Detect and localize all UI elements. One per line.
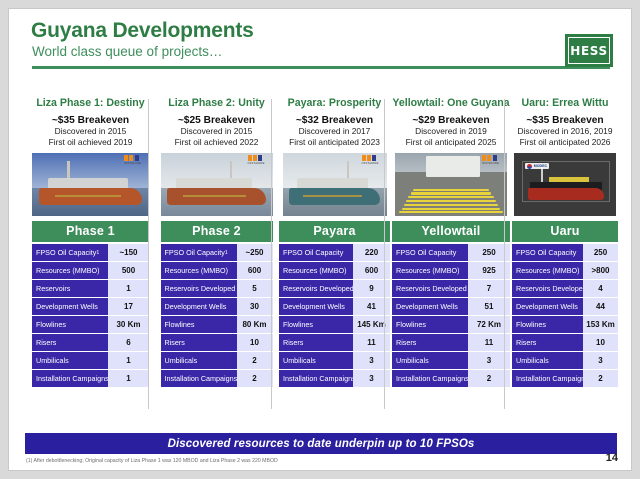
table-row: Resources (MMBO)500 — [32, 262, 149, 279]
photo-pipe — [406, 200, 496, 202]
project-discovered: Discovered in 2015 — [27, 126, 154, 137]
sbm-bar — [362, 155, 366, 161]
project-photo: OFFSHORE — [395, 153, 507, 216]
table-row-label: Installation Campaigns — [32, 370, 108, 387]
project-column: Yellowtail: One Guyana~$29 BreakevenDisc… — [392, 97, 510, 422]
project-table: Phase 2FPSO Oil Capacity1~250Resources (… — [161, 221, 273, 387]
table-row-label: Reservoirs Developed — [161, 280, 237, 297]
table-row-label-text: Resources (MMBO) — [36, 266, 100, 275]
project-first-oil: First oil anticipated 2023 — [279, 137, 390, 148]
photo-pipe — [402, 208, 501, 210]
table-row-label-text: Development Wells — [396, 302, 458, 311]
project-first-oil: First oil achieved 2019 — [27, 137, 154, 148]
project-discovered: Discovered in 2019 — [392, 126, 510, 137]
table-row-value: 6 — [108, 334, 149, 351]
table-row-label-text: Flowlines — [283, 320, 313, 329]
hess-logo: HESS — [565, 34, 613, 67]
table-row: Installation Campaigns2 — [161, 370, 273, 387]
table-row-label-text: Development Wells — [516, 302, 578, 311]
project-name: Liza Phase 1: Destiny — [27, 97, 154, 110]
slide-header: Guyana Developments World class queue of… — [9, 9, 632, 71]
sbm-bar — [135, 155, 139, 161]
table-row-label-text: FPSO Oil Capacity — [36, 248, 96, 257]
table-row: Installation Campaigns3 — [279, 370, 390, 387]
photo-accommodation-block — [426, 156, 480, 177]
table-row-label: Umbilicals — [32, 352, 108, 369]
table-row-value: 80 Km — [237, 316, 273, 333]
table-row-value: >800 — [583, 262, 618, 279]
project-discovered: Discovered in 2017 — [279, 126, 390, 137]
project-first-oil: First oil anticipated 2025 — [392, 137, 510, 148]
table-row: Umbilicals2 — [161, 352, 273, 369]
table-row-label: Resources (MMBO) — [392, 262, 468, 279]
table-row-value: 10 — [237, 334, 273, 351]
photo-flare-tower — [230, 161, 233, 180]
project-photo: OFFSHORE — [32, 153, 149, 216]
table-row-label-text: Resources (MMBO) — [283, 266, 347, 275]
table-row: Development Wells17 — [32, 298, 149, 315]
table-row: Risers10 — [512, 334, 618, 351]
table-row-label: Development Wells — [32, 298, 108, 315]
table-row-label: Umbilicals — [161, 352, 237, 369]
table-row-label-text: Flowlines — [516, 320, 546, 329]
project-breakeven: ~$25 Breakeven — [156, 115, 277, 126]
column-divider — [384, 99, 385, 409]
table-row-label-text: Resources (MMBO) — [516, 266, 580, 275]
project-table-rows: FPSO Oil Capacity250Resources (MMBO)925R… — [392, 244, 510, 387]
project-name: Uaru: Errea Wittu — [512, 97, 618, 110]
table-row-value: 2 — [237, 370, 273, 387]
hess-logo-frame: HESS — [568, 37, 610, 64]
project-first-oil: First oil achieved 2022 — [156, 137, 277, 148]
table-row-label: FPSO Oil Capacity1 — [32, 244, 108, 261]
table-row: Flowlines153 Km — [512, 316, 618, 333]
table-row-label-text: Risers — [36, 338, 56, 347]
table-row: Reservoirs1 — [32, 280, 149, 297]
sbm-bar — [253, 155, 257, 161]
sbm-bars-icon — [124, 155, 146, 161]
table-row: Reservoirs Developed7 — [392, 280, 510, 297]
project-table-rows: FPSO Oil Capacity220Resources (MMBO)600R… — [279, 244, 390, 387]
table-row: Resources (MMBO)600 — [279, 262, 390, 279]
table-row-label-text: Risers — [283, 338, 303, 347]
project-table-rows: FPSO Oil Capacity1~150Resources (MMBO)50… — [32, 244, 149, 387]
table-row-label-text: Umbilicals — [283, 356, 316, 365]
footnote-text: (1) After debottlenecking; Original capa… — [26, 458, 278, 464]
table-row-label: Risers — [32, 334, 108, 351]
column-divider — [504, 99, 505, 409]
project-name: Yellowtail: One Guyana — [392, 97, 510, 110]
project-table-rows: FPSO Oil Capacity250Resources (MMBO)>800… — [512, 244, 618, 387]
table-row-footnote-marker: 1 — [225, 250, 228, 256]
sbm-logo-text: OFFSHORE — [362, 161, 384, 165]
table-row-value: 2 — [237, 352, 273, 369]
project-column: Payara: Prosperity~$32 BreakevenDiscover… — [279, 97, 390, 422]
sbm-offshore-logo: OFFSHORE — [248, 155, 270, 164]
table-row-label: FPSO Oil Capacity — [392, 244, 468, 261]
photo-pipe — [411, 192, 492, 194]
sbm-bar — [124, 155, 128, 161]
table-row-label: Flowlines — [279, 316, 353, 333]
table-row-label-text: Reservoirs — [36, 284, 70, 293]
table-row-label-text: Installation Campaigns — [283, 374, 353, 383]
photo-hull — [528, 188, 603, 199]
photo-pipe — [413, 189, 489, 191]
table-row-label-text: Umbilicals — [396, 356, 429, 365]
table-row: Risers6 — [32, 334, 149, 351]
table-row-label: FPSO Oil Capacity — [279, 244, 353, 261]
table-row-label-text: Installation Campaigns — [165, 374, 237, 383]
table-row: Development Wells30 — [161, 298, 273, 315]
table-row: Installation Campaigns2 — [392, 370, 510, 387]
table-row-label: Reservoirs Developed — [279, 280, 353, 297]
table-row: Reservoirs Developed9 — [279, 280, 390, 297]
sbm-logo-text: OFFSHORE — [482, 161, 504, 165]
sbm-bar — [372, 155, 376, 161]
table-row-label-text: Risers — [396, 338, 416, 347]
table-row-label-text: Risers — [165, 338, 185, 347]
table-row-label-text: Risers — [516, 338, 536, 347]
sbm-logo-text: OFFSHORE — [248, 161, 270, 165]
project-columns: Liza Phase 1: Destiny~$35 BreakevenDisco… — [9, 97, 632, 422]
table-row: FPSO Oil Capacity1~150 — [32, 244, 149, 261]
table-row: Umbilicals3 — [512, 352, 618, 369]
table-row: Flowlines80 Km — [161, 316, 273, 333]
table-row: Development Wells51 — [392, 298, 510, 315]
table-row-label-text: FPSO Oil Capacity — [165, 248, 225, 257]
table-row: Risers10 — [161, 334, 273, 351]
table-row: Development Wells41 — [279, 298, 390, 315]
table-row-value: ~150 — [108, 244, 149, 261]
footer-banner: Discovered resources to date underpin up… — [25, 433, 617, 454]
table-row: FPSO Oil Capacity250 — [512, 244, 618, 261]
table-row: Resources (MMBO)600 — [161, 262, 273, 279]
photo-flare-tower — [67, 161, 70, 180]
table-row-label-text: FPSO Oil Capacity — [283, 248, 343, 257]
table-row-label-text: Development Wells — [36, 302, 98, 311]
table-row-label-text: Resources (MMBO) — [396, 266, 460, 275]
table-row: Flowlines72 Km — [392, 316, 510, 333]
table-row-value: 5 — [237, 280, 273, 297]
table-row-label: Risers — [161, 334, 237, 351]
table-row-label: Resources (MMBO) — [161, 262, 237, 279]
table-row-label: Installation Campaigns — [161, 370, 237, 387]
table-row-value: 1 — [108, 352, 149, 369]
table-row-label: FPSO Oil Capacity1 — [161, 244, 237, 261]
table-row-value: 30 — [237, 298, 273, 315]
sbm-bars-icon — [482, 155, 504, 161]
table-row-label: Resources (MMBO) — [512, 262, 583, 279]
sbm-bar — [482, 155, 486, 161]
project-table: PayaraFPSO Oil Capacity220Resources (MMB… — [279, 221, 390, 387]
table-row-label: Umbilicals — [512, 352, 583, 369]
table-row: Flowlines145 Km — [279, 316, 390, 333]
photo-hull-stripe — [55, 195, 121, 198]
project-table: UaruFPSO Oil Capacity250Resources (MMBO)… — [512, 221, 618, 387]
project-photo: OFFSHORE — [161, 153, 273, 216]
table-row-label: Development Wells — [392, 298, 468, 315]
table-row-label-text: Reservoirs Developed — [165, 284, 236, 293]
project-table: Phase 1FPSO Oil Capacity1~150Resources (… — [32, 221, 149, 387]
project-table-title: Phase 2 — [161, 221, 273, 242]
table-row-label: Risers — [279, 334, 353, 351]
table-row-label-text: Umbilicals — [36, 356, 69, 365]
table-row-label: Development Wells — [161, 298, 237, 315]
table-row-label: Resources (MMBO) — [279, 262, 353, 279]
table-row-label-text: Resources (MMBO) — [165, 266, 229, 275]
page-number: 14 — [606, 452, 618, 464]
table-row-value: 153 Km — [583, 316, 618, 333]
table-row-label: Umbilicals — [392, 352, 468, 369]
table-row: Umbilicals3 — [392, 352, 510, 369]
table-row-value: 30 Km — [108, 316, 149, 333]
sbm-bar — [367, 155, 371, 161]
table-row-label: Flowlines — [512, 316, 583, 333]
photo-hull-stripe — [183, 195, 246, 198]
table-row-label: Reservoirs — [32, 280, 108, 297]
table-row-label-text: Umbilicals — [516, 356, 549, 365]
table-row: Umbilicals3 — [279, 352, 390, 369]
table-row-value: 44 — [583, 298, 618, 315]
table-row-label: Flowlines — [32, 316, 108, 333]
project-column: Liza Phase 1: Destiny~$35 BreakevenDisco… — [27, 97, 154, 422]
table-row: Risers11 — [279, 334, 390, 351]
project-name: Payara: Prosperity — [279, 97, 390, 110]
table-row-label-text: Development Wells — [165, 302, 227, 311]
table-row-label: Flowlines — [161, 316, 237, 333]
sbm-bars-icon — [362, 155, 384, 161]
project-column: Uaru: Errea Wittu~$35 BreakevenDiscovere… — [512, 97, 618, 422]
project-table-title: Yellowtail — [392, 221, 510, 242]
hess-logo-text: HESS — [570, 44, 607, 58]
table-row-label-text: Installation Campaigns — [396, 374, 468, 383]
table-row-label: Reservoirs Developed — [512, 280, 583, 297]
table-row-label: Resources (MMBO) — [32, 262, 108, 279]
photo-flare-tower — [541, 167, 543, 183]
table-row: Development Wells44 — [512, 298, 618, 315]
table-row-label-text: Flowlines — [165, 320, 195, 329]
title-divider — [32, 66, 610, 69]
table-row-value: 2 — [583, 370, 618, 387]
project-breakeven: ~$35 Breakeven — [27, 115, 154, 126]
table-row: Resources (MMBO)>800 — [512, 262, 618, 279]
table-row-label-text: Flowlines — [36, 320, 66, 329]
project-name: Liza Phase 2: Unity — [156, 97, 277, 110]
table-row-value: 500 — [108, 262, 149, 279]
table-row-label: Risers — [512, 334, 583, 351]
photo-flare-tower — [347, 161, 350, 180]
table-row-footnote-marker: 1 — [96, 250, 99, 256]
table-row-label: Flowlines — [392, 316, 468, 333]
sbm-bar — [129, 155, 133, 161]
table-row-label-text: Reservoirs Developed — [396, 284, 467, 293]
table-row-label: Installation Campaigns — [392, 370, 468, 387]
table-row-label-text: Flowlines — [396, 320, 426, 329]
sbm-bar — [493, 155, 497, 161]
sbm-offshore-logo: OFFSHORE — [124, 155, 146, 164]
table-row: Reservoirs Developed4 — [512, 280, 618, 297]
project-breakeven: ~$29 Breakeven — [392, 115, 510, 126]
project-discovered: Discovered in 2015 — [156, 126, 277, 137]
sbm-bar — [487, 155, 491, 161]
sbm-bar — [258, 155, 262, 161]
table-row-label-text: Installation Campaigns — [516, 374, 583, 383]
table-row-label: FPSO Oil Capacity — [512, 244, 583, 261]
project-table-title: Payara — [279, 221, 390, 242]
column-divider — [148, 99, 149, 409]
table-row-value: 3 — [583, 352, 618, 369]
table-row-label: Reservoirs Developed — [392, 280, 468, 297]
table-row-label-text: Reservoirs Developed — [516, 284, 583, 293]
sbm-logo-text: OFFSHORE — [124, 161, 146, 165]
table-row-value: 250 — [583, 244, 618, 261]
table-row: Risers11 — [392, 334, 510, 351]
slide: Guyana Developments World class queue of… — [8, 8, 632, 471]
table-row-label: Risers — [392, 334, 468, 351]
table-row: Resources (MMBO)925 — [392, 262, 510, 279]
sbm-offshore-logo: OFFSHORE — [482, 155, 504, 164]
project-table: YellowtailFPSO Oil Capacity250Resources … — [392, 221, 510, 387]
table-row-label-text: Reservoirs Developed — [283, 284, 353, 293]
project-breakeven: ~$32 Breakeven — [279, 115, 390, 126]
photo-hull-stripe — [303, 195, 361, 198]
table-row-label: Installation Campaigns — [279, 370, 353, 387]
table-row: FPSO Oil Capacity1~250 — [161, 244, 273, 261]
photo-pipe — [404, 204, 498, 206]
project-table-title: Uaru — [512, 221, 618, 242]
project-table-rows: FPSO Oil Capacity1~250Resources (MMBO)60… — [161, 244, 273, 387]
table-row-label-text: Umbilicals — [165, 356, 198, 365]
table-row: Flowlines30 Km — [32, 316, 149, 333]
sbm-bar — [248, 155, 252, 161]
table-row-label-text: Development Wells — [283, 302, 345, 311]
sbm-bars-icon — [248, 155, 270, 161]
project-photo: OFFSHORE — [283, 153, 387, 216]
project-breakeven: ~$35 Breakeven — [512, 115, 618, 126]
table-row: FPSO Oil Capacity220 — [279, 244, 390, 261]
modec-mark-icon — [527, 164, 532, 169]
project-photo: MODEC — [514, 153, 616, 216]
project-first-oil: First oil anticipated 2026 — [512, 137, 618, 148]
project-column: Liza Phase 2: Unity~$25 BreakevenDiscove… — [156, 97, 277, 422]
table-row: FPSO Oil Capacity250 — [392, 244, 510, 261]
table-row-label: Installation Campaigns — [512, 370, 583, 387]
table-row-value: 17 — [108, 298, 149, 315]
column-divider — [271, 99, 272, 409]
modec-logo: MODEC — [525, 163, 549, 169]
project-discovered: Discovered in 2016, 2019 — [512, 126, 618, 137]
modec-logo-text: MODEC — [534, 164, 547, 168]
table-row: Installation Campaigns1 — [32, 370, 149, 387]
table-row: Reservoirs Developed5 — [161, 280, 273, 297]
project-table-title: Phase 1 — [32, 221, 149, 242]
table-row-value: 1 — [108, 370, 149, 387]
table-row-label: Umbilicals — [279, 352, 353, 369]
table-row-value: 1 — [108, 280, 149, 297]
table-row-value: 4 — [583, 280, 618, 297]
table-row-label-text: Installation Campaigns — [36, 374, 108, 383]
table-row-value: 600 — [237, 262, 273, 279]
table-row-label: Development Wells — [279, 298, 353, 315]
table-row-value: 10 — [583, 334, 618, 351]
page-subtitle: World class queue of projects… — [32, 44, 222, 59]
sbm-offshore-logo: OFFSHORE — [362, 155, 384, 164]
table-row-value: ~250 — [237, 244, 273, 261]
table-row-label: Development Wells — [512, 298, 583, 315]
table-row: Installation Campaigns2 — [512, 370, 618, 387]
table-row: Umbilicals1 — [32, 352, 149, 369]
table-row-label-text: FPSO Oil Capacity — [396, 248, 456, 257]
page-title: Guyana Developments — [31, 19, 254, 43]
table-row-label-text: FPSO Oil Capacity — [516, 248, 576, 257]
